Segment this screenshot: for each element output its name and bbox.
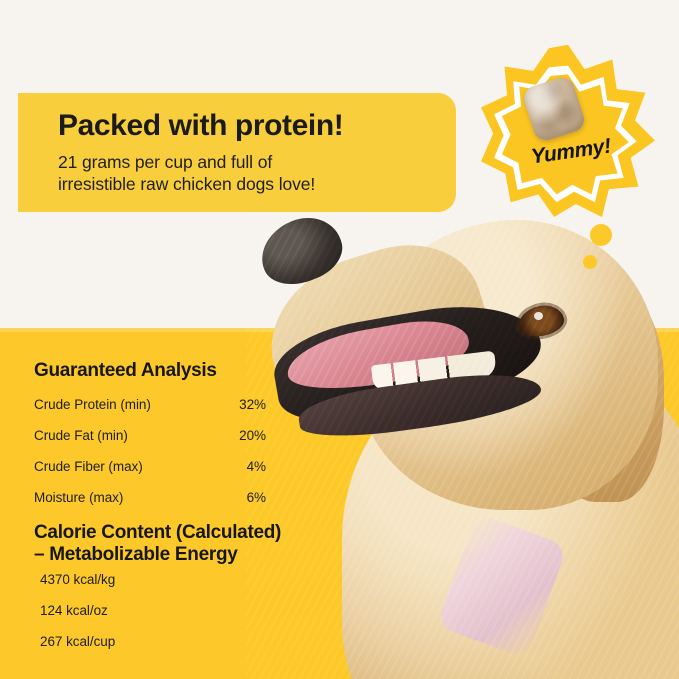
row-value: 4% <box>247 459 266 474</box>
dog-nose <box>251 207 350 295</box>
row-value: 20% <box>239 428 266 443</box>
table-row: Crude Fiber (max) 4% <box>34 459 266 490</box>
table-row: Crude Fat (min) 20% <box>34 428 266 459</box>
yummy-badge: Yummy! <box>481 43 655 217</box>
calorie-content-heading: Calorie Content (Calculated) – Metaboliz… <box>34 522 294 567</box>
row-label: Crude Fiber (max) <box>34 459 143 474</box>
row-value: 32% <box>239 397 266 412</box>
calorie-heading-line-1: Calorie Content (Calculated) <box>34 522 294 544</box>
thought-dot-small <box>583 255 597 269</box>
row-label: Crude Protein (min) <box>34 397 151 412</box>
table-row: Moisture (max) 6% <box>34 490 266 521</box>
headline-title: Packed with protein! <box>58 109 456 142</box>
dog-eye-glint <box>534 312 543 320</box>
headline-callout: Packed with protein! 21 grams per cup an… <box>18 93 456 212</box>
thought-dot-large <box>590 224 612 246</box>
row-label: Moisture (max) <box>34 490 123 505</box>
guaranteed-analysis-table: Crude Protein (min) 32% Crude Fat (min) … <box>34 397 266 521</box>
headline-subtitle-line-2: irresistible raw chicken dogs love! <box>58 173 456 195</box>
row-label: Crude Fat (min) <box>34 428 128 443</box>
headline-subtitle-line-1: 21 grams per cup and full of <box>58 151 456 173</box>
list-item: 267 kcal/cup <box>40 634 115 665</box>
calorie-heading-line-2: – Metabolizable Energy <box>34 544 294 566</box>
product-infographic: Packed with protein! 21 grams per cup an… <box>0 0 679 679</box>
calorie-content-list: 4370 kcal/kg 124 kcal/oz 267 kcal/cup <box>40 572 115 665</box>
table-row: Crude Protein (min) 32% <box>34 397 266 428</box>
headline-subtitle: 21 grams per cup and full of irresistibl… <box>58 151 456 196</box>
list-item: 4370 kcal/kg <box>40 572 115 603</box>
list-item: 124 kcal/oz <box>40 603 115 634</box>
row-value: 6% <box>247 490 266 505</box>
guaranteed-analysis-heading: Guaranteed Analysis <box>34 360 217 382</box>
